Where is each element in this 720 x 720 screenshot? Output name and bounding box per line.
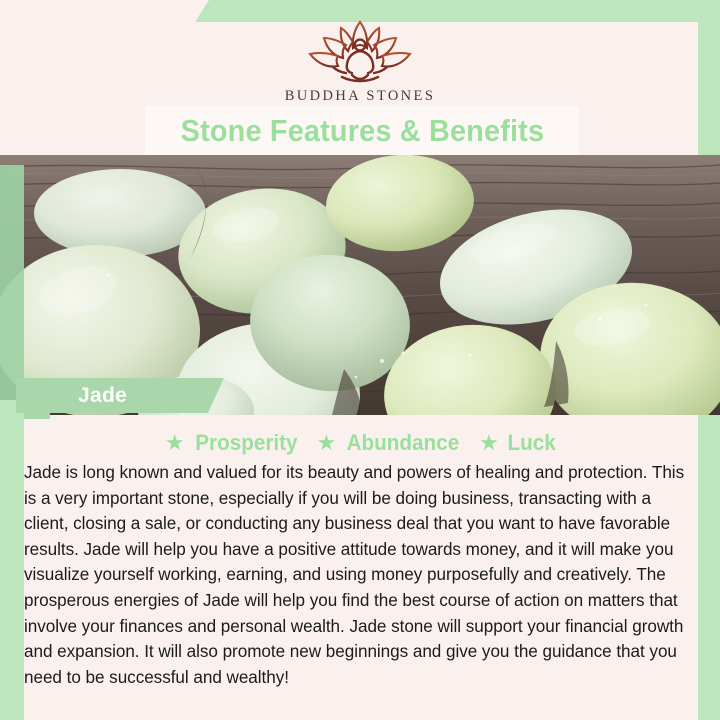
keyword-row: ★ Prosperity ★ Abundance ★ Luck xyxy=(24,430,698,456)
keyword-luck: ★ Luck xyxy=(479,430,557,456)
star-icon: ★ xyxy=(479,432,499,454)
star-icon: ★ xyxy=(165,432,185,454)
brand-name: BUDDHA STONES xyxy=(285,88,436,105)
stone-name: Jade xyxy=(78,384,127,408)
keyword-prosperity: ★ Prosperity xyxy=(165,430,301,456)
decor-left-green-strip-lower xyxy=(0,400,24,720)
brand-header: BUDDHA STONES xyxy=(0,14,720,114)
page-title: Stone Features & Benefits xyxy=(180,113,544,149)
lotus-meditation-icon xyxy=(296,14,424,86)
stone-description: Jade is long known and valued for its be… xyxy=(24,460,694,690)
decor-left-green-strip-upper xyxy=(0,165,24,400)
keyword-label: Prosperity xyxy=(195,430,297,456)
stone-name-banner: Jade xyxy=(16,378,224,413)
stone-photo xyxy=(0,155,720,415)
star-icon: ★ xyxy=(316,432,336,454)
keyword-abundance: ★ Abundance xyxy=(316,430,463,456)
section-title-band: Stone Features & Benefits xyxy=(145,106,579,155)
stone-info-card: BUDDHA STONES Stone Features & Benefits xyxy=(0,0,720,720)
keyword-label: Luck xyxy=(507,430,555,456)
keyword-label: Abundance xyxy=(347,430,460,456)
decor-right-green-strip-lower xyxy=(698,480,720,720)
